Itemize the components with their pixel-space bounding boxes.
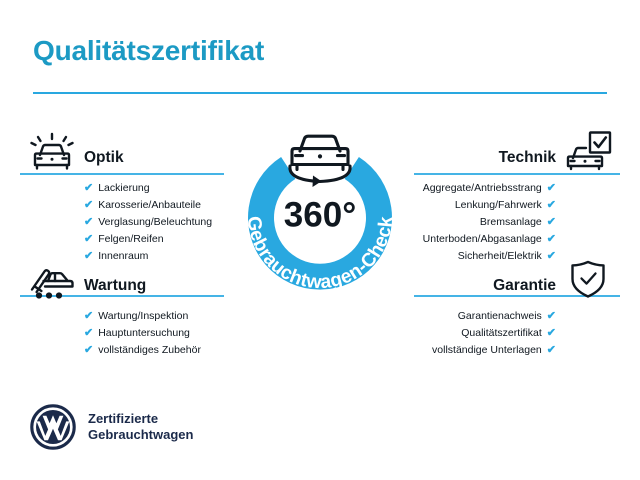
check-icon: ✔ bbox=[547, 311, 556, 322]
badge-center-label: 360° bbox=[284, 195, 356, 234]
check-icon: ✔ bbox=[547, 217, 556, 228]
list-item: Unterboden/Abgasanlage ✔ bbox=[418, 231, 618, 248]
footer-line-2: Gebrauchtwagen bbox=[88, 427, 193, 442]
list-item: ✔ Karosserie/Anbauteile bbox=[22, 197, 222, 214]
list-item-label: Bremsanlage bbox=[480, 217, 542, 228]
list-item-label: Hauptuntersuchung bbox=[98, 328, 190, 339]
list-item-label: Lenkung/Fahrwerk bbox=[455, 200, 542, 211]
check-icon: ✔ bbox=[84, 217, 93, 228]
list-item-label: Verglasung/Beleuchtung bbox=[98, 217, 212, 228]
list-item-label: Unterboden/Abgasanlage bbox=[423, 234, 542, 245]
section-wartung-title: Wartung bbox=[84, 277, 146, 295]
list-item: ✔ vollständiges Zubehör bbox=[22, 342, 222, 359]
list-item: Lenkung/Fahrwerk ✔ bbox=[418, 197, 618, 214]
car-rotate-360-icon bbox=[290, 136, 350, 187]
section-technik-header: Technik bbox=[418, 128, 618, 174]
list-item: Bremsanlage ✔ bbox=[418, 214, 618, 231]
title-underline-divider bbox=[33, 92, 607, 94]
list-item-label: Felgen/Reifen bbox=[98, 234, 163, 245]
section-technik: Technik Aggregate/Antriebsstrang ✔ Lenku… bbox=[418, 128, 618, 265]
car-shine-icon bbox=[26, 128, 78, 172]
volkswagen-logo bbox=[30, 404, 76, 450]
page-title: Qualitätszertifikat bbox=[33, 35, 264, 67]
check-icon: ✔ bbox=[84, 200, 93, 211]
list-item: ✔ Lackierung bbox=[22, 180, 222, 197]
section-wartung: Wartung ✔ Wartung/Inspektion ✔ Hauptunte… bbox=[22, 256, 222, 359]
car-wrench-service-icon bbox=[26, 256, 78, 300]
section-optik-header: Optik bbox=[22, 128, 222, 174]
list-item-label: Qualitätszertifikat bbox=[461, 328, 542, 339]
list-item-label: vollständiges Zubehör bbox=[98, 345, 201, 356]
list-item-label: Karosserie/Anbauteile bbox=[98, 200, 201, 211]
section-garantie: Garantie Garantienachweis ✔ Qualitätszer… bbox=[418, 256, 618, 359]
list-item: ✔ Felgen/Reifen bbox=[22, 231, 222, 248]
check-icon: ✔ bbox=[547, 183, 556, 194]
check-icon: ✔ bbox=[84, 234, 93, 245]
list-item: ✔ Hauptuntersuchung bbox=[22, 325, 222, 342]
section-optik-list: ✔ Lackierung ✔ Karosserie/Anbauteile ✔ V… bbox=[22, 180, 222, 265]
check-icon: ✔ bbox=[547, 200, 556, 211]
check-icon: ✔ bbox=[84, 328, 93, 339]
list-item: Aggregate/Antriebsstrang ✔ bbox=[418, 180, 618, 197]
list-item-label: vollständige Unterlagen bbox=[432, 345, 542, 356]
shield-check-icon bbox=[562, 256, 614, 300]
section-garantie-title: Garantie bbox=[493, 277, 556, 295]
footer-brand-lockup: Zertifizierte Gebrauchtwagen bbox=[30, 404, 193, 450]
list-item: Garantienachweis ✔ bbox=[418, 308, 618, 325]
check-icon: ✔ bbox=[547, 328, 556, 339]
section-optik: Optik ✔ Lackierung ✔ Karosserie/Anbautei… bbox=[22, 128, 222, 265]
list-item: vollständige Unterlagen ✔ bbox=[418, 342, 618, 359]
list-item: Qualitätszertifikat ✔ bbox=[418, 325, 618, 342]
section-technik-list: Aggregate/Antriebsstrang ✔ Lenkung/Fahrw… bbox=[418, 180, 618, 265]
check-icon: ✔ bbox=[84, 183, 93, 194]
footer-brand-text: Zertifizierte Gebrauchtwagen bbox=[88, 411, 193, 444]
list-item-label: Wartung/Inspektion bbox=[98, 311, 188, 322]
footer-line-1: Zertifizierte bbox=[88, 411, 158, 426]
list-item: ✔ Verglasung/Beleuchtung bbox=[22, 214, 222, 231]
section-optik-title: Optik bbox=[84, 149, 124, 167]
list-item-label: Lackierung bbox=[98, 183, 149, 194]
section-garantie-list: Garantienachweis ✔ Qualitätszertifikat ✔… bbox=[418, 308, 618, 359]
gebrauchtwagen-check-badge: Gebrauchtwagen-Check 360° bbox=[222, 118, 418, 314]
list-item: ✔ Wartung/Inspektion bbox=[22, 308, 222, 325]
qualitaetszertifikat-page: Qualitätszertifikat bbox=[0, 0, 640, 480]
car-checkbox-icon bbox=[562, 128, 614, 172]
check-icon: ✔ bbox=[84, 311, 93, 322]
check-icon: ✔ bbox=[84, 345, 93, 356]
check-icon: ✔ bbox=[547, 234, 556, 245]
section-garantie-header: Garantie bbox=[418, 256, 618, 302]
section-technik-title: Technik bbox=[499, 149, 556, 167]
list-item-label: Aggregate/Antriebsstrang bbox=[423, 183, 542, 194]
check-icon: ✔ bbox=[547, 345, 556, 356]
list-item-label: Garantienachweis bbox=[458, 311, 542, 322]
section-wartung-header: Wartung bbox=[22, 256, 222, 302]
section-wartung-list: ✔ Wartung/Inspektion ✔ Hauptuntersuchung… bbox=[22, 308, 222, 359]
